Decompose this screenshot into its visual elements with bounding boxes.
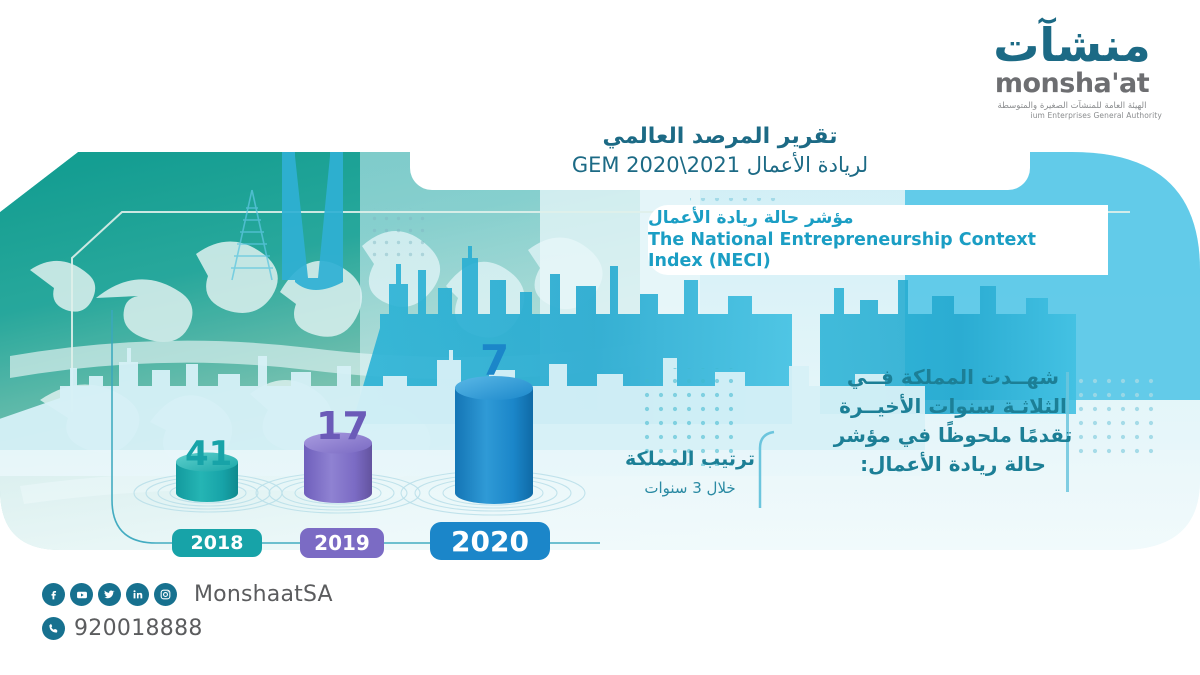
year-pill-2020[interactable]: 2020	[430, 522, 550, 560]
linkedin-icon[interactable]	[126, 583, 149, 606]
summary-line-3: تقدمًا ملحوظًا في مؤشر	[818, 421, 1088, 450]
year-pill-2018[interactable]: 2018	[172, 529, 262, 557]
twitter-icon[interactable]	[98, 583, 121, 606]
infographic-canvas: منشآت monsha'at الهيئة العامة للمنشآت ال…	[0, 0, 1200, 675]
youtube-icon[interactable]	[70, 583, 93, 606]
neci-index-banner: مؤشر حالة ريادة الأعمال The National Ent…	[648, 205, 1108, 275]
facebook-icon[interactable]	[42, 583, 65, 606]
neci-title-english: The National Entrepreneurship Context In…	[648, 230, 1082, 272]
ranking-label-title: ترتيب المملكة	[610, 448, 770, 471]
logo-latin-wordmark: monsha'at	[962, 70, 1182, 98]
bar-value-2018: 41	[185, 437, 232, 471]
summary-paragraph: شهــدت المملكة فــي الثلاثـة سنوات الأخي…	[818, 363, 1088, 479]
summary-line-2: الثلاثـة سنوات الأخيــرة	[818, 392, 1088, 421]
year-pill-2019[interactable]: 2019	[300, 528, 384, 558]
bar-value-2019: 17	[316, 407, 369, 445]
report-title-banner: تقرير المرصد العالمي لريادة الأعمال GEM …	[410, 112, 1030, 190]
summary-line-4: حالة ريادة الأعمال:	[818, 450, 1088, 479]
instagram-icon[interactable]	[154, 583, 177, 606]
monshaat-logo: منشآت monsha'at الهيئة العامة للمنشآت ال…	[962, 22, 1182, 120]
report-title-line1: تقرير المرصد العالمي	[603, 124, 838, 149]
summary-line-1: شهــدت المملكة فــي	[818, 363, 1088, 392]
phone-icon[interactable]	[42, 617, 65, 640]
ranking-label: ترتيب المملكة خلال 3 سنوات	[610, 448, 770, 498]
report-title-line2: لريادة الأعمال GEM 2020\2021	[572, 152, 868, 178]
phone-row: 920018888	[42, 616, 333, 641]
footer: MonshaatSA 920018888	[42, 582, 333, 641]
phone-number: 920018888	[74, 616, 203, 641]
logo-subtitle-arabic: الهيئة العامة للمنشآت الصغيرة والمتوسطة	[962, 101, 1182, 111]
neci-title-arabic: مؤشر حالة ريادة الأعمال	[648, 208, 854, 228]
logo-arabic-wordmark: منشآت	[962, 22, 1182, 68]
social-links-row: MonshaatSA	[42, 582, 333, 607]
ranking-label-subtitle: خلال 3 سنوات	[610, 479, 770, 499]
bar-value-2020: 7	[480, 340, 509, 382]
social-handle: MonshaatSA	[194, 582, 333, 607]
